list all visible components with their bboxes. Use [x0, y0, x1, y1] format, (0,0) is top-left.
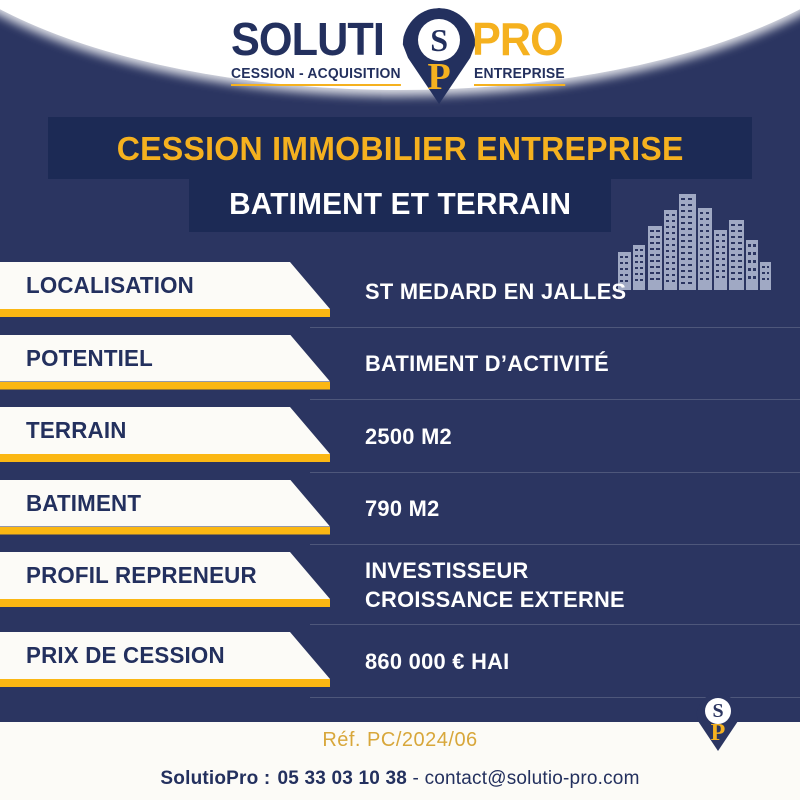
row-value-line: 860 000 € HAI [365, 647, 510, 676]
table-row: TERRAIN 2500 M2 [0, 400, 800, 473]
title-sub-banner: BATIMENT ET TERRAIN [189, 179, 611, 232]
row-label-text: PRIX DE CESSION [26, 632, 225, 679]
page-subtitle: BATIMENT ET TERRAIN [229, 186, 571, 222]
logo-tagline-entreprise: ENTREPRISE [474, 67, 565, 86]
footer-map-pin-icon: S P [696, 693, 740, 755]
table-row: BATIMENT 790 M2 [0, 473, 800, 546]
mini-pin-letter-s: S [712, 701, 723, 721]
row-value-line: CROISSANCE EXTERNE [365, 585, 625, 614]
row-value-line: INVESTISSEUR [365, 556, 625, 585]
row-label-text: LOCALISATION [26, 262, 194, 309]
title-main-banner: CESSION IMMOBILIER ENTREPRISE [48, 117, 752, 179]
row-label-yellow-accent [0, 679, 330, 687]
brand-logo: SOLUTI CESSION - ACQUISITION S P PRO ENT… [0, 8, 800, 98]
contact-separator: - [407, 768, 425, 789]
pin-letter-s: S [430, 24, 448, 56]
table-row: LOCALISATION ST MEDARD EN JALLES [0, 255, 800, 328]
logo-word-pro: PRO [472, 16, 563, 62]
row-value-cell: BATIMENT D’ACTIVITÉ [330, 328, 800, 401]
row-label-text: POTENTIEL [26, 335, 153, 382]
row-label-banner: BATIMENT [0, 480, 330, 535]
contact-bar: SolutioPro : 05 33 03 10 38 - contact@so… [0, 758, 800, 800]
details-table: LOCALISATION ST MEDARD EN JALLES POTENTI… [0, 255, 800, 698]
pin-circle: S [418, 19, 460, 61]
contact-details: 05 33 03 10 38 - contact@solutio-pro.com [277, 768, 639, 790]
row-label-text: TERRAIN [26, 407, 127, 454]
row-label-banner: PROFIL REPRENEUR [0, 552, 330, 607]
row-value-line: BATIMENT D’ACTIVITÉ [365, 349, 609, 378]
map-pin-icon: S P [402, 8, 476, 104]
row-value-cell: ST MEDARD EN JALLES [330, 255, 800, 328]
row-label-banner: POTENTIEL [0, 335, 330, 390]
reference-text: Réf. PC/2024/06 [322, 729, 477, 752]
row-label-banner: TERRAIN [0, 407, 330, 462]
row-value-line: ST MEDARD EN JALLES [365, 277, 626, 306]
row-label-yellow-accent [0, 599, 330, 607]
row-label-yellow-accent [0, 382, 330, 390]
mini-pin-letter-p: P [696, 721, 740, 745]
logo-tagline-cession-acquisition: CESSION - ACQUISITION [231, 67, 401, 86]
contact-brand-label: SolutioPro : [160, 768, 270, 790]
poster-canvas: SOLUTI CESSION - ACQUISITION S P PRO ENT… [0, 0, 800, 800]
row-label-banner: PRIX DE CESSION [0, 632, 330, 687]
contact-phone[interactable]: 05 33 03 10 38 [277, 768, 407, 789]
row-value-line: 2500 M2 [365, 422, 452, 451]
row-value-line: 790 M2 [365, 494, 440, 523]
page-title: CESSION IMMOBILIER ENTREPRISE [117, 130, 684, 168]
row-label-yellow-accent [0, 454, 330, 462]
row-value-cell: 860 000 € HAI [330, 625, 800, 698]
logo-word-soluti: SOLUTI [231, 16, 384, 62]
title-block: CESSION IMMOBILIER ENTREPRISE BATIMENT E… [0, 117, 800, 232]
row-value-cell: 790 M2 [330, 473, 800, 546]
row-label-yellow-accent [0, 527, 330, 535]
contact-email[interactable]: contact@solutio-pro.com [425, 768, 640, 789]
reference-bar: Réf. PC/2024/06 [0, 722, 800, 758]
pin-letter-p: P [402, 58, 476, 96]
footer-navy-band [0, 700, 800, 722]
row-label-yellow-accent [0, 309, 330, 317]
row-label-text: PROFIL REPRENEUR [26, 552, 257, 599]
row-label-text: BATIMENT [26, 480, 141, 527]
row-value-cell: 2500 M2 [330, 400, 800, 473]
logo-left-group: SOLUTI CESSION - ACQUISITION [231, 16, 408, 86]
table-row: POTENTIEL BATIMENT D’ACTIVITÉ [0, 328, 800, 401]
table-row: PRIX DE CESSION 860 000 € HAI [0, 625, 800, 698]
row-value-cell: INVESTISSEUR CROISSANCE EXTERNE [330, 545, 800, 625]
row-label-banner: LOCALISATION [0, 262, 330, 317]
table-row: PROFIL REPRENEUR INVESTISSEUR CROISSANCE… [0, 545, 800, 625]
logo-right-group: PRO ENTREPRISE [472, 16, 569, 86]
